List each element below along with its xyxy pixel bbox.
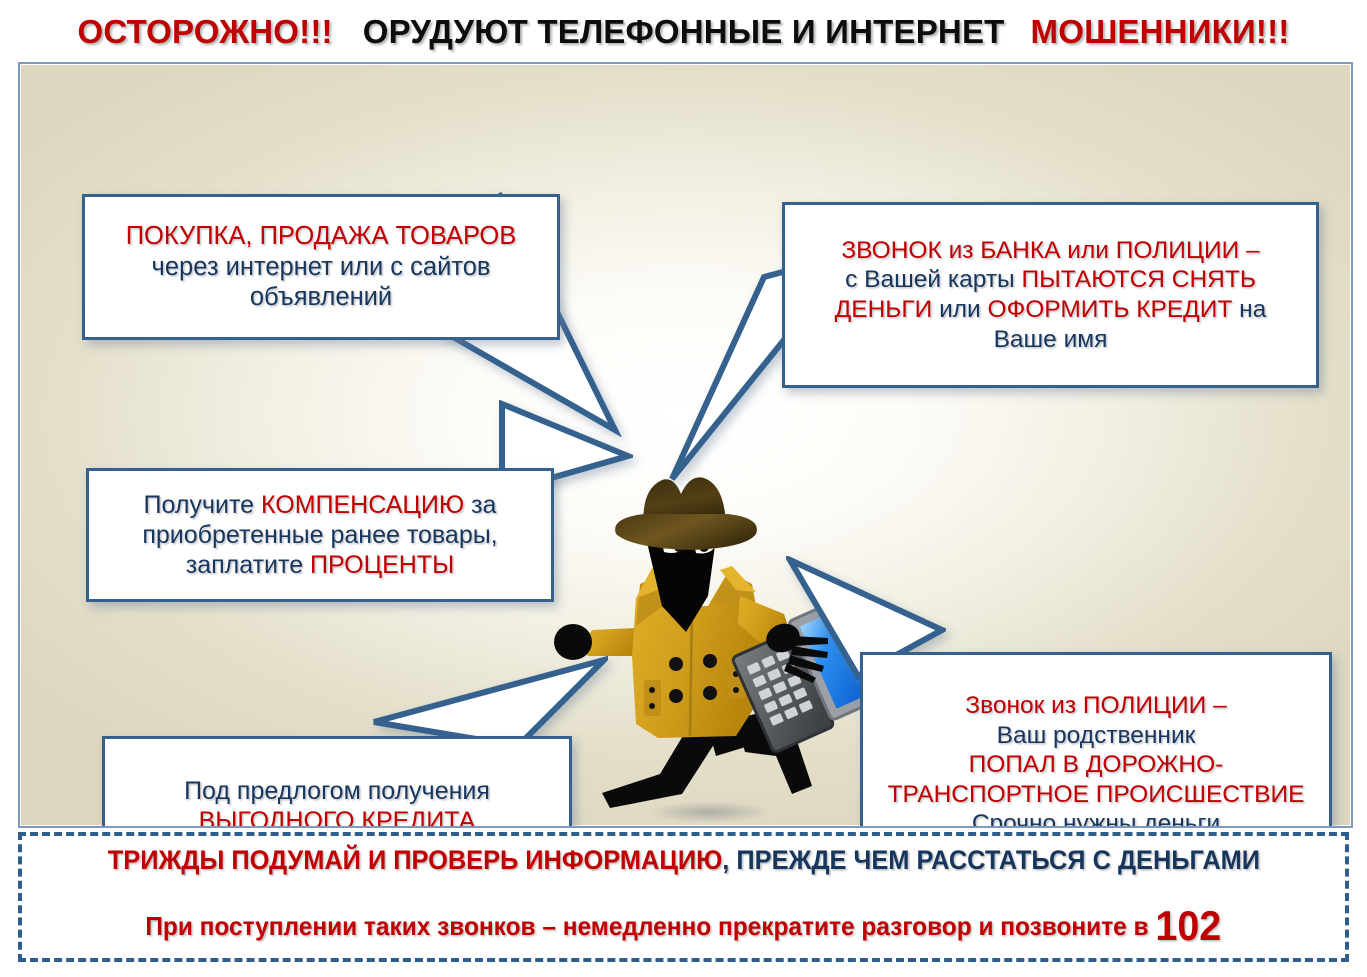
bubble-span: ПРОЦЕНТЫ xyxy=(310,551,454,579)
bubble-line: с Вашей карты ПЫТАЮТСЯ СНЯТЬ xyxy=(845,265,1256,295)
bubble-span: КОМПЕНСАЦИЮ xyxy=(261,491,471,519)
bubble-span: за xyxy=(471,491,496,519)
bubble-police-accident: Звонок из ПОЛИЦИИ – Ваш родственник ПОПА… xyxy=(860,652,1332,828)
fraud-warning-poster: ОСТОРОЖНО!!! ОРУДУЮТ ТЕЛЕФОННЫЕ И ИНТЕРН… xyxy=(0,0,1367,977)
ground-shadow xyxy=(648,801,772,823)
bubble-line: через интернет или с сайтов xyxy=(152,252,491,283)
bubble-bank-police-call: ЗВОНОК из БАНКА или ПОЛИЦИИ – с Вашей ка… xyxy=(782,202,1319,388)
bubble-span: Звонок из ПОЛИЦИИ – xyxy=(965,692,1226,719)
bubble-span: Ваш родственник xyxy=(997,722,1196,749)
poster-title: ОСТОРОЖНО!!! ОРУДУЮТ ТЕЛЕФОННЫЕ И ИНТЕРН… xyxy=(0,8,1367,56)
coat-button xyxy=(669,657,683,671)
bubble-line: Срочно нужны деньги xyxy=(972,809,1220,828)
bubble-span: ДЕНЬГИ xyxy=(835,296,939,323)
bubble-span: Получите xyxy=(144,491,261,519)
main-panel: ПОКУПКА, ПРОДАЖА ТОВАРОВ через интернет … xyxy=(18,62,1353,828)
bubble-line: ПОКУПКА, ПРОДАЖА ТОВАРОВ xyxy=(126,221,517,252)
title-part-caution: ОСТОРОЖНО!!! xyxy=(78,13,333,51)
coat-button xyxy=(703,686,717,700)
bubble-span: ПОКУПКА, ПРОДАЖА ТОВАРОВ xyxy=(126,222,517,250)
bubble-line: заплатите ПРОЦЕНТЫ xyxy=(186,550,454,580)
banner-before-parting: , ПРЕЖДЕ ЧЕМ РАССТАТЬСЯ С ДЕНЬГАМИ xyxy=(722,845,1260,875)
emergency-number-102: 102 xyxy=(1156,902,1222,949)
bubble-span: или xyxy=(939,296,987,323)
bubble-span: с Вашей карты xyxy=(845,266,1021,293)
bubble-span: ПЫТАЮТСЯ СНЯТЬ xyxy=(1021,266,1255,293)
bubble-purchase-sale: ПОКУПКА, ПРОДАЖА ТОВАРОВ через интернет … xyxy=(82,194,560,340)
coat-pocket-left xyxy=(644,680,661,716)
bubble-line: Звонок из ПОЛИЦИИ – xyxy=(965,691,1226,721)
fist-left xyxy=(554,624,592,660)
title-part-main: ОРУДУЮТ ТЕЛЕФОННЫЕ И ИНТЕРНЕТ xyxy=(363,13,1005,51)
bubble-favorable-credit: Под предлогом получения ВЫГОДНОГО КРЕДИТ… xyxy=(102,736,572,828)
pocket-stud xyxy=(649,703,655,709)
bubble-line: ВЫГОДНОГО КРЕДИТА xyxy=(199,806,476,828)
bubble-span: через интернет или с сайтов xyxy=(152,253,491,281)
bubble-line: Ваше имя xyxy=(994,325,1108,355)
bubble-span: ОФОРМИТЬ КРЕДИТ xyxy=(988,296,1240,323)
pocket-stud xyxy=(733,687,739,693)
bubble-span: ПОПАЛ В ДОРОЖНО- xyxy=(969,751,1224,778)
coat-button xyxy=(669,689,683,703)
bubble-line: Получите КОМПЕНСАЦИЮ за xyxy=(144,490,497,520)
banner-hangup-advice: При поступлении таких звонков – немедлен… xyxy=(146,911,1156,941)
bubble-span: Ваше имя xyxy=(994,326,1108,353)
bubble-line: приобретенные ранее товары, xyxy=(142,520,497,550)
bubble-line: Ваш родственник xyxy=(997,721,1196,751)
bubble-line: ТРАНСПОРТНОЕ ПРОИСШЕСТВИЕ xyxy=(888,780,1305,810)
banner-line-2: При поступлении таких звонков – немедлен… xyxy=(146,902,1222,950)
bubble-span: заплатите xyxy=(186,551,310,579)
bubble-span: объявлений xyxy=(250,283,392,311)
bubble-span: на xyxy=(1239,296,1266,323)
call-to-action-banner: ТРИЖДЫ ПОДУМАЙ И ПРОВЕРЬ ИНФОРМАЦИЮ, ПРЕ… xyxy=(18,832,1349,962)
bubble-span: ЗВОНОК из БАНКА или ПОЛИЦИИ – xyxy=(841,237,1259,264)
hat-brim xyxy=(615,514,757,550)
bubble-line: ПОПАЛ В ДОРОЖНО- xyxy=(969,750,1224,780)
bubble-span: приобретенные ранее товары, xyxy=(142,521,497,549)
bubble-span: Под предлогом получения xyxy=(184,777,490,805)
bubble-line: ДЕНЬГИ или ОФОРМИТЬ КРЕДИТ на xyxy=(835,295,1267,325)
bubble-line: Под предлогом получения xyxy=(184,776,490,806)
title-part-scammers: МОШЕННИКИ!!! xyxy=(1031,13,1290,51)
bubble-span: ВЫГОДНОГО КРЕДИТА xyxy=(199,807,476,828)
bubble-span: Срочно нужны деньги xyxy=(972,810,1220,828)
bubble-line: объявлений xyxy=(250,282,392,313)
bubble-compensation: Получите КОМПЕНСАЦИЮ за приобретенные ра… xyxy=(86,468,554,602)
bubble-line: ЗВОНОК из БАНКА или ПОЛИЦИИ – xyxy=(841,236,1259,266)
banner-think-thrice: ТРИЖДЫ ПОДУМАЙ И ПРОВЕРЬ ИНФОРМАЦИЮ xyxy=(107,845,722,875)
banner-line-1: ТРИЖДЫ ПОДУМАЙ И ПРОВЕРЬ ИНФОРМАЦИЮ, ПРЕ… xyxy=(107,845,1259,876)
coat-button xyxy=(703,654,717,668)
pocket-stud xyxy=(649,687,655,693)
bubble-span: ТРАНСПОРТНОЕ ПРОИСШЕСТВИЕ xyxy=(888,781,1305,808)
